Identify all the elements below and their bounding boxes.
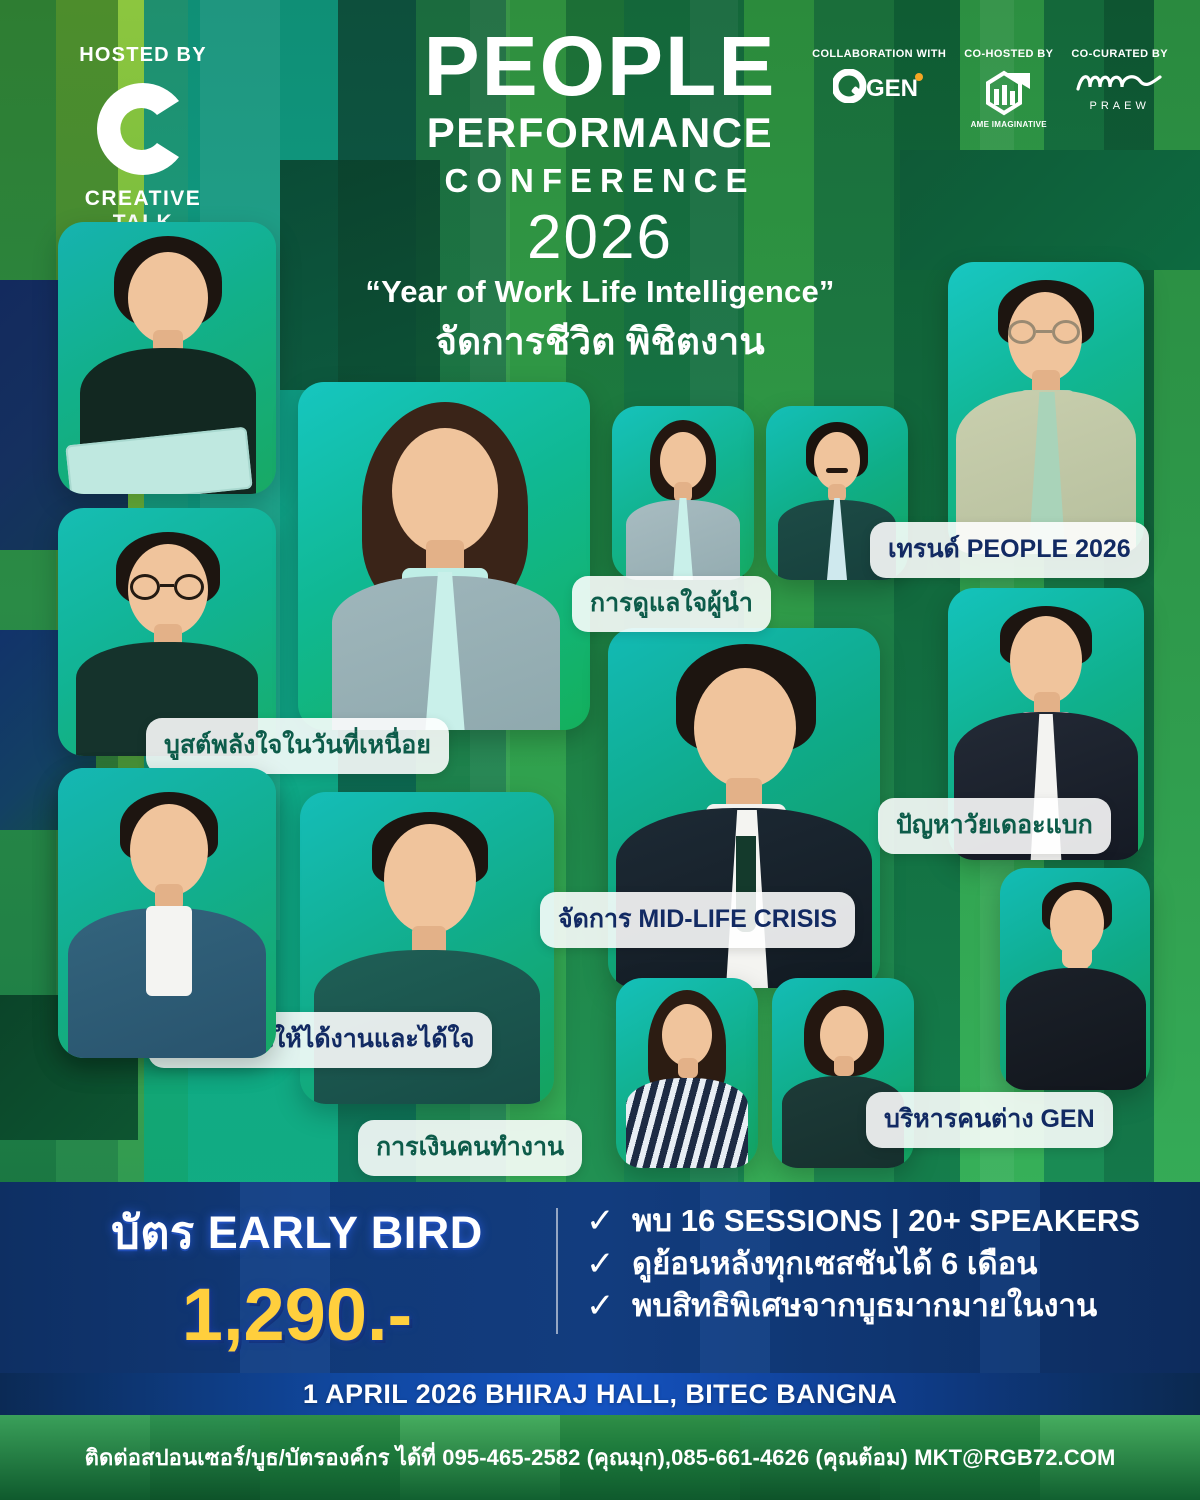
speaker-card-chin-man: [1000, 868, 1150, 1090]
session-label-boost-energy[interactable]: บูสต์พลังใจในวันที่เหนื่อย: [146, 718, 449, 774]
benefit-text-2: พบสิทธิพิเศษจากบูธมากมายในงาน: [632, 1289, 1097, 1324]
ticket-price: 1,290.-: [62, 1272, 532, 1357]
session-label-leader-care[interactable]: การดูแลใจผู้นำ: [572, 576, 771, 632]
ticket-title: บัตร EARLY BIRD: [62, 1196, 532, 1268]
speaker-card-book-man: [58, 222, 276, 494]
session-label-people-trend[interactable]: เทรนด์ PEOPLE 2026: [870, 522, 1149, 578]
price-divider: [556, 1208, 558, 1334]
ticket-price-band: บัตร EARLY BIRD 1,290.- ✓ พบ 16 SESSIONS…: [0, 1182, 1200, 1378]
speaker-card-trend-man: [948, 262, 1144, 554]
speaker-card-woman-suit: [612, 406, 754, 580]
speaker-figure: [1000, 868, 1150, 1090]
benefit-text-0: พบ 16 SESSIONS | 20+ SPEAKERS: [632, 1204, 1140, 1239]
speaker-figure: [58, 222, 276, 494]
benefit-text-1: ดูย้อนหลังทุกเซสชันได้ 6 เดือน: [632, 1247, 1037, 1282]
session-label-mid-life[interactable]: จัดการ MID-LIFE CRISIS: [540, 892, 855, 948]
title-performance: PERFORMANCE: [0, 107, 1200, 160]
benefit-item: ✓ พบสิทธิพิเศษจากบูธมากมายในงาน: [586, 1289, 1140, 1324]
title-people: PEOPLE: [0, 28, 1200, 105]
speaker-figure: [948, 262, 1144, 554]
session-label-cross-gen[interactable]: บริหารคนต่าง GEN: [866, 1092, 1113, 1148]
ticket-benefits-list: ✓ พบ 16 SESSIONS | 20+ SPEAKERS ✓ ดูย้อน…: [586, 1204, 1140, 1332]
speaker-figure: [612, 406, 754, 580]
benefit-item: ✓ พบ 16 SESSIONS | 20+ SPEAKERS: [586, 1204, 1140, 1239]
speaker-card-lead-woman: [298, 382, 590, 730]
footer-band: ติดต่อสปอนเซอร์/บูธ/บัตรองค์กร ได้ที่ 09…: [0, 1415, 1200, 1500]
speaker-card-striped-woman: [616, 978, 758, 1168]
ticket-price-block: บัตร EARLY BIRD 1,290.-: [62, 1196, 532, 1357]
speaker-figure: [58, 768, 276, 1058]
conference-poster: HOSTED BY CREATIVE TALK COLLABORATION WI…: [0, 0, 1200, 1500]
speaker-figure: [616, 978, 758, 1168]
speaker-figure: [298, 382, 590, 730]
venue-text: 1 APRIL 2026 BHIRAJ HALL, BITEC BANGNA: [303, 1379, 897, 1410]
footer-contact-text: ติดต่อสปอนเซอร์/บูธ/บัตรองค์กร ได้ที่ 09…: [85, 1440, 1116, 1475]
speaker-card-denim-young-man: [58, 768, 276, 1058]
venue-band: 1 APRIL 2026 BHIRAJ HALL, BITEC BANGNA: [0, 1373, 1200, 1415]
session-label-the-bak[interactable]: ปัญหาวัยเดอะแบก: [878, 798, 1111, 854]
session-label-worker-money[interactable]: การเงินคนทำงาน: [358, 1120, 582, 1176]
check-icon: ✓: [586, 1289, 616, 1323]
benefit-item: ✓ ดูย้อนหลังทุกเซสชันได้ 6 เดือน: [586, 1247, 1140, 1282]
title-conference: CONFERENCE: [0, 160, 1200, 203]
check-icon: ✓: [586, 1247, 616, 1281]
check-icon: ✓: [586, 1204, 616, 1238]
